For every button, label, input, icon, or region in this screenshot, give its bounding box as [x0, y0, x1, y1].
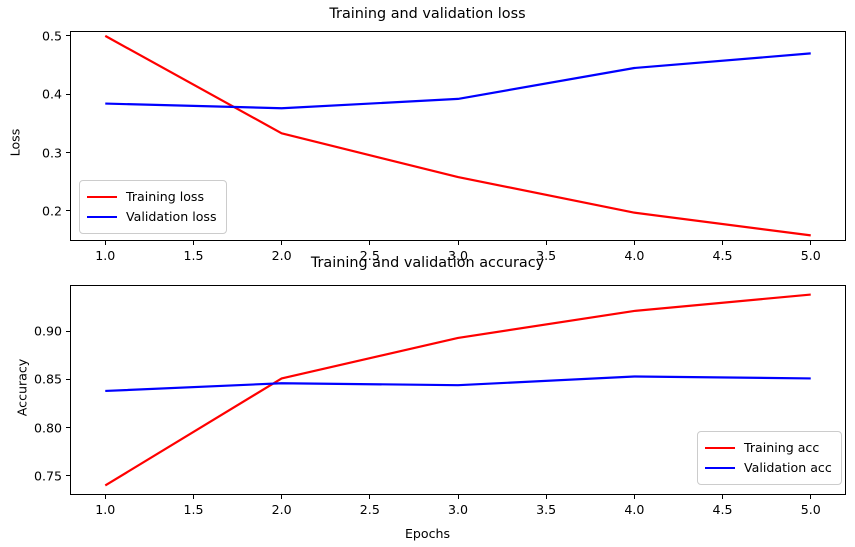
legend-item-training-loss: Training loss	[87, 187, 217, 207]
x-tick-label: 1.0	[95, 502, 115, 517]
x-tick-mark	[634, 241, 635, 245]
y-tick-mark	[66, 379, 70, 380]
x-tick-mark	[105, 495, 106, 499]
legend-swatch-training-acc	[705, 447, 735, 449]
x-tick-mark	[281, 241, 282, 245]
x-tick-mark	[722, 241, 723, 245]
x-tick-mark	[810, 241, 811, 245]
y-tick-label: 0.85	[8, 372, 62, 387]
legend-label-validation-loss: Validation loss	[126, 211, 217, 224]
y-tick-label: 0.80	[8, 420, 62, 435]
x-tick-label: 2.5	[360, 502, 380, 517]
x-tick-mark	[369, 495, 370, 499]
y-tick-label: 0.5	[8, 28, 62, 43]
x-tick-mark	[722, 495, 723, 499]
x-tick-label: 3.5	[536, 502, 556, 517]
y-tick-mark	[66, 94, 70, 95]
y-tick-mark	[66, 210, 70, 211]
x-tick-label: 4.5	[713, 502, 733, 517]
legend-accuracy[interactable]: Training acc Validation acc	[697, 431, 842, 485]
subplot-training-validation-accuracy: Training and validation accuracy Accurac…	[0, 255, 855, 547]
x-tick-label: 4.0	[624, 502, 644, 517]
x-tick-label: 2.0	[272, 502, 292, 517]
x-axis-label-epochs: Epochs	[0, 526, 855, 541]
legend-item-training-acc: Training acc	[705, 438, 832, 458]
x-tick-mark	[810, 495, 811, 499]
legend-item-validation-acc: Validation acc	[705, 458, 832, 478]
legend-label-training-acc: Training acc	[744, 442, 819, 455]
y-tick-mark	[66, 475, 70, 476]
y-tick-label: 0.2	[8, 203, 62, 218]
line-series-validation-loss	[105, 53, 810, 108]
x-tick-label: 3.0	[448, 502, 468, 517]
y-tick-mark	[66, 331, 70, 332]
line-series-validation-acc	[105, 377, 810, 391]
x-tick-mark	[546, 495, 547, 499]
x-tick-mark	[458, 241, 459, 245]
y-tick-label: 0.75	[8, 468, 62, 483]
x-tick-mark	[105, 241, 106, 245]
x-tick-mark	[193, 241, 194, 245]
y-tick-mark	[66, 427, 70, 428]
legend-swatch-validation-loss	[87, 216, 117, 218]
y-tick-label: 0.4	[8, 87, 62, 102]
legend-item-validation-loss: Validation loss	[87, 207, 217, 227]
y-tick-mark	[66, 35, 70, 36]
x-tick-mark	[193, 495, 194, 499]
x-tick-mark	[281, 495, 282, 499]
legend-swatch-validation-acc	[705, 467, 735, 469]
x-tick-mark	[634, 495, 635, 499]
legend-loss[interactable]: Training loss Validation loss	[79, 180, 227, 234]
legend-label-validation-acc: Validation acc	[744, 462, 832, 475]
y-tick-label: 0.3	[8, 145, 62, 160]
legend-label-training-loss: Training loss	[126, 191, 204, 204]
subplot-training-validation-loss: Training and validation loss Loss 1.01.5…	[0, 0, 855, 270]
matplotlib-figure: Training and validation loss Loss 1.01.5…	[0, 0, 855, 547]
x-tick-mark	[546, 241, 547, 245]
legend-swatch-training-loss	[87, 196, 117, 198]
x-tick-mark	[369, 241, 370, 245]
x-tick-mark	[458, 495, 459, 499]
x-tick-label: 5.0	[801, 502, 821, 517]
x-tick-label: 1.5	[183, 502, 203, 517]
y-tick-mark	[66, 152, 70, 153]
y-tick-label: 0.90	[8, 324, 62, 339]
